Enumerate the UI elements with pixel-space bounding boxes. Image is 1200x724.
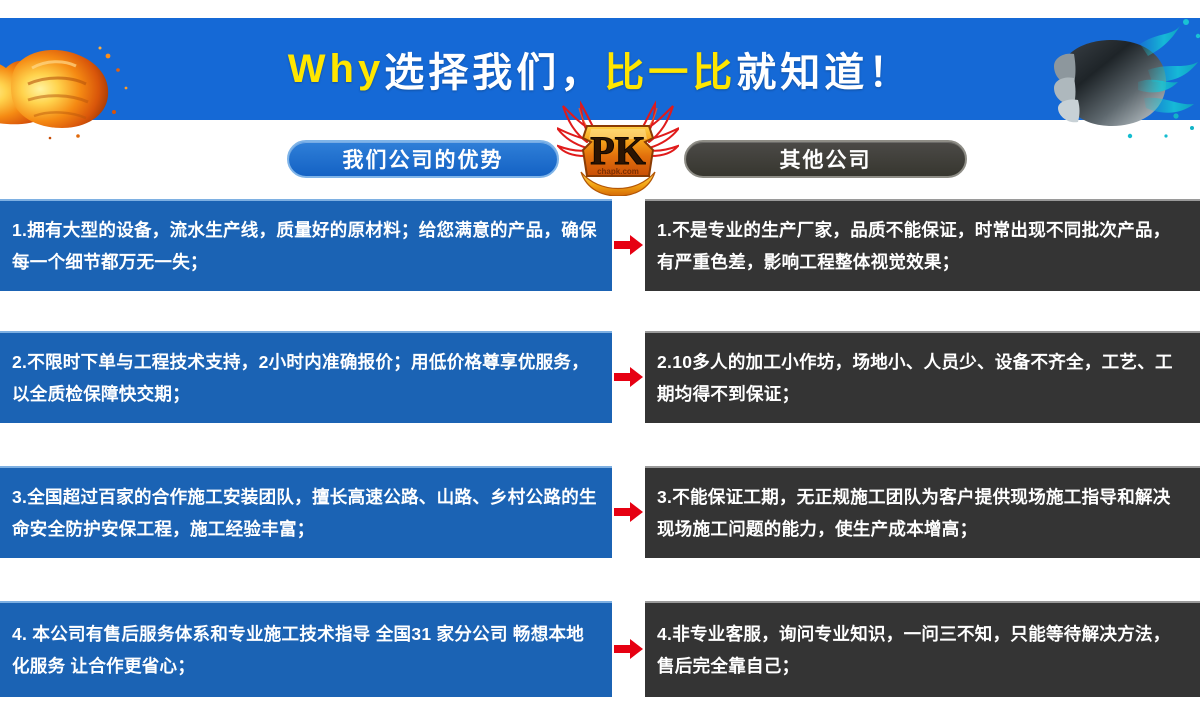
other-company-text-2: 2.10多人的加工小作坊，场地小、人员少、设备不齐全，工艺、工期均得不到保证； <box>657 346 1186 411</box>
arrow-right-icon-1 <box>612 199 645 291</box>
other-company-card-2: 2.10多人的加工小作坊，场地小、人员少、设备不齐全，工艺、工期均得不到保证； <box>645 331 1200 423</box>
other-company-text-3: 3.不能保证工期，无正规施工团队为客户提供现场施工指导和解决现场施工问题的能力，… <box>657 481 1186 546</box>
comparison-infographic: Why选择我们，比一比就知道！ 我们公司的优势 其他公司 <box>0 0 1200 724</box>
comparison-row: 3.全国超过百家的合作施工安装团队，擅长高速公路、山路、乡村公路的生命安全防护安… <box>0 466 1200 558</box>
comparison-row: 4. 本公司有售后服务体系和专业施工技术指导 全国31 家分公司 畅想本地化服务… <box>0 601 1200 697</box>
our-advantage-text-1: 1.拥有大型的设备，流水生产线，质量好的原材料；给您满意的产品，确保每一个细节都… <box>12 214 598 279</box>
arrow-right-icon-4 <box>612 601 645 697</box>
other-company-card-4: 4.非专业客服，询问专业知识，一问三不知，只能等待解决方法，售后完全靠自己； <box>645 601 1200 697</box>
our-advantage-card-3: 3.全国超过百家的合作施工安装团队，擅长高速公路、山路、乡村公路的生命安全防护安… <box>0 466 612 558</box>
our-advantage-text-3: 3.全国超过百家的合作施工安装团队，擅长高速公路、山路、乡村公路的生命安全防护安… <box>12 481 598 546</box>
comparison-row: 1.拥有大型的设备，流水生产线，质量好的原材料；给您满意的产品，确保每一个细节都… <box>0 199 1200 291</box>
other-company-card-1: 1.不是专业的生产厂家，品质不能保证，时常出现不同批次产品，有严重色差，影响工程… <box>645 199 1200 291</box>
arrow-right-icon-3 <box>612 466 645 558</box>
comparison-row: 2.不限时下单与工程技术支持，2小时内准确报价；用低价格尊享优服务，以全质检保障… <box>0 331 1200 423</box>
arrow-right-icon-2 <box>612 331 645 423</box>
comparison-table: 1.拥有大型的设备，流水生产线，质量好的原材料；给您满意的产品，确保每一个细节都… <box>0 0 1200 724</box>
our-advantage-card-2: 2.不限时下单与工程技术支持，2小时内准确报价；用低价格尊享优服务，以全质检保障… <box>0 331 612 423</box>
other-company-text-1: 1.不是专业的生产厂家，品质不能保证，时常出现不同批次产品，有严重色差，影响工程… <box>657 214 1186 279</box>
our-advantage-text-2: 2.不限时下单与工程技术支持，2小时内准确报价；用低价格尊享优服务，以全质检保障… <box>12 346 598 411</box>
other-company-card-3: 3.不能保证工期，无正规施工团队为客户提供现场施工指导和解决现场施工问题的能力，… <box>645 466 1200 558</box>
other-company-text-4: 4.非专业客服，询问专业知识，一问三不知，只能等待解决方法，售后完全靠自己； <box>657 618 1186 683</box>
our-advantage-card-1: 1.拥有大型的设备，流水生产线，质量好的原材料；给您满意的产品，确保每一个细节都… <box>0 199 612 291</box>
our-advantage-card-4: 4. 本公司有售后服务体系和专业施工技术指导 全国31 家分公司 畅想本地化服务… <box>0 601 612 697</box>
our-advantage-text-4: 4. 本公司有售后服务体系和专业施工技术指导 全国31 家分公司 畅想本地化服务… <box>12 618 598 683</box>
